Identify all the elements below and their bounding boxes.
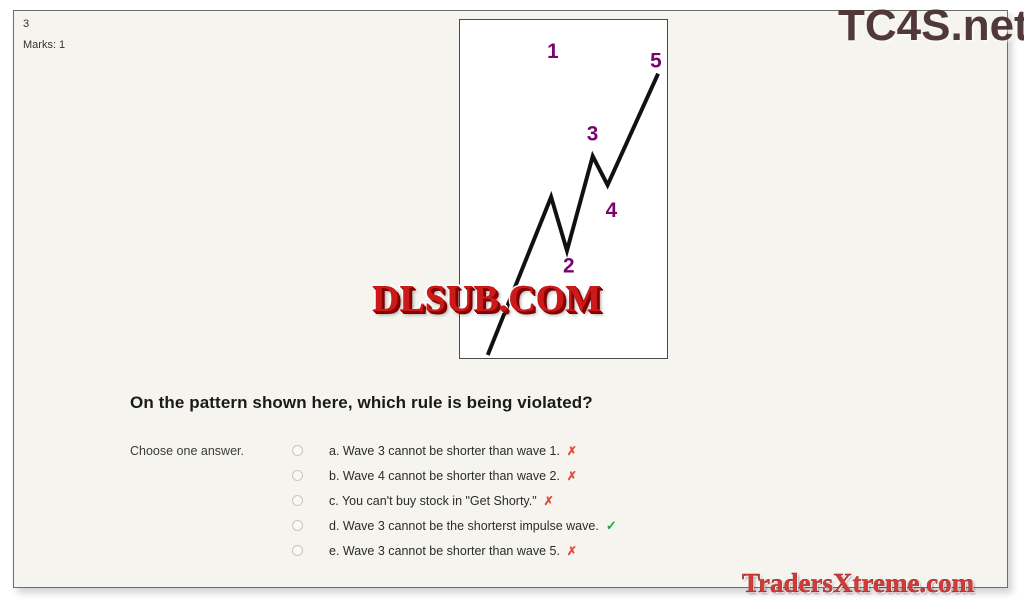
page-root: 3 Marks: 1 1 2 3 4 5 On the pattern show… — [0, 0, 1024, 605]
answer-option-row[interactable]: b. Wave 4 cannot be shorter than wave 2.… — [292, 463, 732, 488]
wave-label-3: 3 — [587, 122, 599, 145]
answer-options-list: a. Wave 3 cannot be shorter than wave 1.… — [292, 438, 732, 563]
incorrect-answer-icon: ✗ — [567, 469, 577, 483]
answer-option-label: a. Wave 3 cannot be shorter than wave 1. — [329, 444, 560, 458]
question-number: 3 — [23, 17, 323, 31]
choose-one-answer-label: Choose one answer. — [130, 444, 244, 458]
answer-option-label: d. Wave 3 cannot be the shorterst impuls… — [329, 519, 599, 533]
answer-radio-button[interactable] — [292, 470, 303, 481]
question-header: 3 Marks: 1 — [23, 17, 323, 53]
answer-option-row[interactable]: c. You can't buy stock in "Get Shorty."✗ — [292, 488, 732, 513]
answer-option-label: e. Wave 3 cannot be shorter than wave 5. — [329, 544, 560, 558]
answer-option-label: c. You can't buy stock in "Get Shorty." — [329, 494, 537, 508]
answer-radio-button[interactable] — [292, 545, 303, 556]
answer-radio-button[interactable] — [292, 520, 303, 531]
incorrect-answer-icon: ✗ — [567, 544, 577, 558]
watermark-dlsub-fill: DLSUB.COM — [372, 278, 601, 320]
wave-label-1: 1 — [547, 40, 559, 63]
correct-answer-icon: ✓ — [606, 518, 617, 534]
watermark-tradersxtreme: TradersXtreme.com — [742, 568, 974, 599]
wave-label-4: 4 — [606, 199, 618, 222]
question-marks: Marks: 1 — [23, 38, 323, 53]
answer-option-row[interactable]: a. Wave 3 cannot be shorter than wave 1.… — [292, 438, 732, 463]
incorrect-answer-icon: ✗ — [544, 494, 554, 508]
wave-label-2: 2 — [563, 254, 575, 277]
incorrect-answer-icon: ✗ — [567, 444, 577, 458]
question-prompt: On the pattern shown here, which rule is… — [130, 393, 593, 413]
wave-label-5: 5 — [650, 50, 662, 73]
answer-option-row[interactable]: e. Wave 3 cannot be shorter than wave 5.… — [292, 538, 732, 563]
answer-radio-button[interactable] — [292, 495, 303, 506]
watermark-tc4s: TC4S.net — [838, 2, 1024, 50]
answer-option-row[interactable]: d. Wave 3 cannot be the shorterst impuls… — [292, 513, 732, 538]
answer-option-label: b. Wave 4 cannot be shorter than wave 2. — [329, 469, 560, 483]
answer-radio-button[interactable] — [292, 445, 303, 456]
